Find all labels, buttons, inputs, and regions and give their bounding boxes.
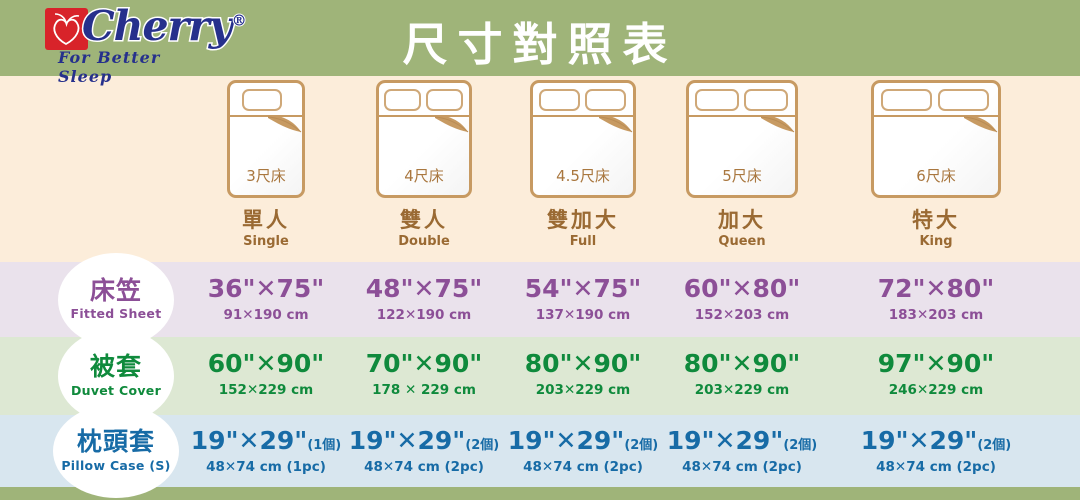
size-quantity: (2個) (783, 438, 817, 453)
bed-name-en: Full (493, 234, 673, 249)
row-label-en: Duvet Cover (71, 383, 161, 398)
bed-illustration: 4尺床 (334, 80, 514, 198)
size-centimeters: 183✕203 cm (841, 307, 1031, 323)
size-centimeters: 246✕229 cm (841, 382, 1031, 398)
pillow-icon-1 (695, 89, 738, 111)
size-cell: 19"✕29"(2個)48✕74 cm (2pc) (647, 426, 837, 475)
folded-sheet-corner-icon (268, 115, 302, 142)
pillow-icon-1 (539, 89, 580, 111)
bed-size-label: 3尺床 (230, 165, 302, 186)
size-cell: 19"✕29"(2個)48✕74 cm (2pc) (841, 426, 1031, 475)
bed-name-cn: 特大 (846, 204, 1026, 234)
pillow-icon-2 (744, 89, 787, 111)
size-inches: 19"✕29"(2個) (647, 426, 837, 455)
pillow-icon-2 (426, 89, 463, 111)
bed-size-label: 5尺床 (689, 165, 795, 186)
row-label-cn: 床笠 (90, 278, 142, 304)
bed-size-label: 6尺床 (874, 165, 998, 186)
row-label-cn: 被套 (90, 354, 142, 380)
bed-shape: 6尺床 (871, 80, 1001, 198)
size-cell: 80"✕90"203✕229 cm (647, 349, 837, 398)
size-inches: 19"✕29"(2個) (841, 426, 1031, 455)
size-quantity: (2個) (977, 438, 1011, 453)
size-cell: 60"✕80"152✕203 cm (647, 274, 837, 323)
bed-shape: 3尺床 (227, 80, 305, 198)
pillow-icon-2 (585, 89, 626, 111)
bed-name-cn: 單人 (176, 204, 356, 234)
pillow-icon (242, 89, 282, 111)
row-label-pillow-case-s: 枕頭套Pillow Case (S) (53, 404, 179, 498)
bed-shape: 4.5尺床 (530, 80, 636, 198)
folded-sheet-corner-icon (964, 115, 998, 142)
bed-shape: 5尺床 (686, 80, 798, 198)
bed-size-label: 4尺床 (379, 165, 469, 186)
page-title: 尺寸對照表 (0, 8, 1080, 73)
bed-illustration: 6尺床 (846, 80, 1026, 198)
bed-name-cn: 加大 (652, 204, 832, 234)
size-centimeters: 48✕74 cm (2pc) (647, 459, 837, 475)
pillow-icon-1 (881, 89, 932, 111)
size-comparison-chart: Cherry® For Better Sleep 尺寸對照表 3尺床單人Sing… (0, 0, 1080, 500)
row-label-en: Fitted Sheet (71, 306, 162, 321)
size-inches: 97"✕90" (841, 349, 1031, 378)
bed-name-en: Double (334, 234, 514, 249)
bed-shape: 4尺床 (376, 80, 472, 198)
size-inches: 72"✕80" (841, 274, 1031, 303)
row-label-cn: 枕頭套 (77, 429, 155, 455)
bed-size-label: 4.5尺床 (533, 165, 633, 186)
bed-name-en: Single (176, 234, 356, 249)
size-centimeters: 152✕203 cm (647, 307, 837, 323)
bed-illustration: 3尺床 (176, 80, 356, 198)
bed-name-en: King (846, 234, 1026, 249)
bed-illustration: 5尺床 (652, 80, 832, 198)
footer-band (0, 487, 1080, 500)
bed-name-en: Queen (652, 234, 832, 249)
bed-name-cn: 雙人 (334, 204, 514, 234)
folded-sheet-corner-icon (435, 115, 469, 142)
size-inches: 60"✕80" (647, 274, 837, 303)
bed-column-full: 4.5尺床雙加大Full (493, 80, 673, 249)
folded-sheet-corner-icon (599, 115, 633, 142)
bed-column-queen: 5尺床加大Queen (652, 80, 832, 249)
bed-column-king: 6尺床特大King (846, 80, 1026, 249)
folded-sheet-corner-icon (761, 115, 795, 142)
bed-illustration: 4.5尺床 (493, 80, 673, 198)
row-label-en: Pillow Case (S) (61, 458, 170, 473)
size-cell: 72"✕80"183✕203 cm (841, 274, 1031, 323)
bed-column-single: 3尺床單人Single (176, 80, 356, 249)
bed-column-double: 4尺床雙人Double (334, 80, 514, 249)
size-inches: 80"✕90" (647, 349, 837, 378)
bed-name-cn: 雙加大 (493, 204, 673, 234)
size-cell: 97"✕90"246✕229 cm (841, 349, 1031, 398)
pillow-icon-1 (384, 89, 421, 111)
size-centimeters: 48✕74 cm (2pc) (841, 459, 1031, 475)
pillow-icon-2 (938, 89, 989, 111)
size-centimeters: 203✕229 cm (647, 382, 837, 398)
